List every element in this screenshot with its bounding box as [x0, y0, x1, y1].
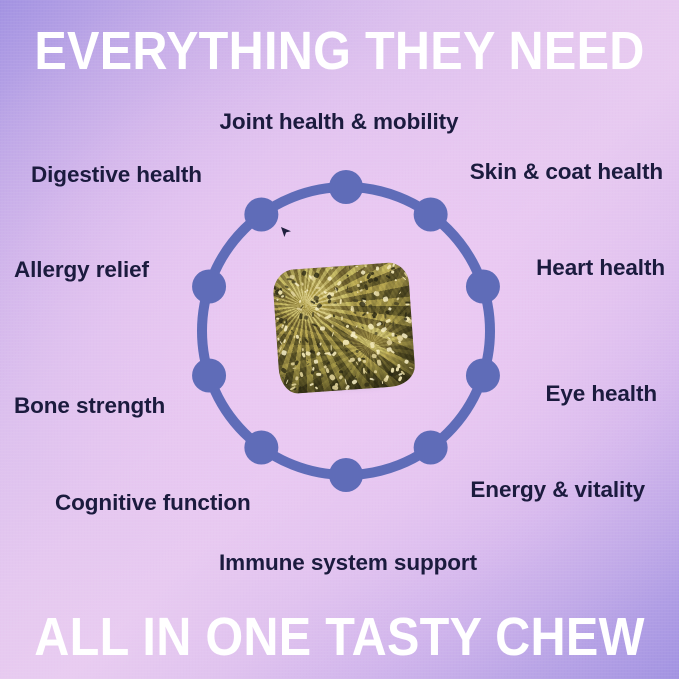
cursor-arrow-icon — [280, 226, 293, 239]
center-product-chew — [272, 262, 418, 396]
benefit-label-digestive-health: Digestive health — [31, 163, 202, 188]
ring-dot — [192, 359, 226, 393]
benefit-label-joint-health-mobility: Joint health & mobility — [0, 110, 679, 135]
ring-dot — [244, 431, 278, 465]
ring-dot — [414, 431, 448, 465]
benefit-label-immune-system-support: Immune system support — [9, 551, 679, 576]
headline-bottom: ALL IN ONE TASTY CHEW — [34, 610, 645, 664]
ring-dot — [329, 458, 363, 492]
poster-canvas: EVERYTHING THEY NEED Joint health & mobi… — [0, 0, 679, 679]
chew-body — [272, 261, 416, 394]
benefit-label-bone-strength: Bone strength — [14, 394, 165, 419]
ring-dot — [192, 270, 226, 304]
benefit-label-skin-coat-health: Skin & coat health — [470, 160, 663, 185]
benefit-label-energy-vitality: Energy & vitality — [470, 478, 645, 503]
ring-dot — [329, 170, 363, 204]
benefit-label-heart-health: Heart health — [536, 256, 665, 281]
ring-dot — [466, 359, 500, 393]
chew-surface-texture — [272, 261, 416, 394]
ring-dot — [244, 198, 278, 232]
cursor-arrow-svg — [280, 226, 293, 239]
benefit-label-allergy-relief: Allergy relief — [14, 258, 149, 283]
ring-dot — [466, 270, 500, 304]
benefit-label-eye-health: Eye health — [545, 382, 657, 407]
ring-dot — [414, 198, 448, 232]
benefit-label-cognitive-function: Cognitive function — [55, 491, 251, 516]
